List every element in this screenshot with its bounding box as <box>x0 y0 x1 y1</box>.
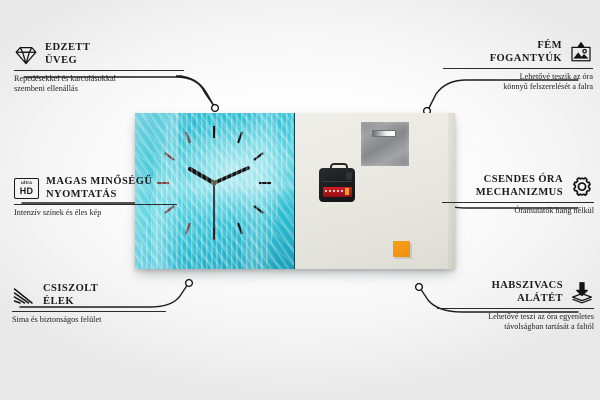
callout-title: CSISZOLT <box>43 283 98 296</box>
callout-title: MAGAS MINŐSÉGŰ <box>46 176 152 189</box>
callout-tempered-glass: EDZETT ÜVEG Repedésekkel és karcolásokka… <box>14 42 184 95</box>
hanging-picture-icon <box>569 41 593 65</box>
mechanism-seam <box>322 181 352 182</box>
callout-description: Intenzív színek és éles kép <box>14 208 177 218</box>
mechanism-hook <box>330 163 348 172</box>
diamond-icon <box>14 43 38 67</box>
connector-dot-foam-pad <box>416 284 423 291</box>
callout-description: Lehetővé teszi az óra egyenletes távolsá… <box>437 312 594 333</box>
foam-pad <box>393 241 410 257</box>
connector-dot-polished-edges <box>186 280 193 287</box>
infographic-canvas: EDZETT ÜVEG Repedésekkel és karcolásokka… <box>0 0 600 400</box>
callout-rule <box>12 311 166 312</box>
mechanism-adjust-knob <box>346 172 352 180</box>
callout-foam-pad: HABSZIVACS ALÁTÉT Lehetővé teszi az óra … <box>437 280 594 333</box>
connector-dot-tempered-glass <box>212 105 219 112</box>
callout-description: Lehetővé teszik az óra könnyű felszerelé… <box>443 72 593 93</box>
callout-description: Repedésekkel és karcolásokkal szembeni e… <box>14 74 184 95</box>
arrow-down-pad-icon <box>570 281 594 305</box>
gear-icon <box>570 175 594 199</box>
callout-title-line2: FOGANTYÚK <box>490 53 562 66</box>
minute-hand <box>214 168 248 183</box>
ultra-hd-icon-bottom-text: HD <box>20 187 34 196</box>
hatched-edge-icon <box>12 284 36 308</box>
callout-rule <box>442 202 594 203</box>
callout-rule <box>14 204 177 205</box>
callout-description: Sima és biztonságos felület <box>12 315 166 325</box>
hour-hand <box>190 169 214 183</box>
callout-title: CSENDES ÓRA <box>476 174 563 187</box>
callout-description: Óramutatók hang nélkül <box>442 206 594 216</box>
product-photo <box>135 113 455 269</box>
callout-silent-clock-mechanism: CSENDES ÓRA MECHANIZMUS Óramutatók hang … <box>442 174 594 216</box>
ultra-hd-icon: ultra HD <box>14 178 39 199</box>
callout-title-line2: ÜVEG <box>45 55 90 68</box>
callout-title-line2: ÉLEK <box>43 296 98 309</box>
callout-title-line2: ALÁTÉT <box>492 293 563 306</box>
callout-title-line2: MECHANIZMUS <box>476 187 563 200</box>
callout-rule <box>14 70 184 71</box>
callout-metal-handles: FÉM FOGANTYÚK Lehetővé teszik az óra kön… <box>443 40 593 93</box>
clock-hands <box>190 168 248 239</box>
clock-center-cap <box>211 180 216 185</box>
callout-rule <box>443 68 593 69</box>
metal-hanger-plate <box>361 122 409 166</box>
callout-title: FÉM <box>490 40 562 53</box>
callout-title: HABSZIVACS <box>492 280 563 293</box>
clock-mechanism-box <box>319 168 355 202</box>
callout-high-quality-print: ultra HD MAGAS MINŐSÉGŰ NYOMTATÁS Intenz… <box>14 176 177 218</box>
callout-rule <box>437 308 594 309</box>
hanger-slot <box>372 130 396 137</box>
callout-title: EDZETT <box>45 42 90 55</box>
battery <box>323 187 352 197</box>
battery-label <box>325 190 345 192</box>
callout-title-line2: NYOMTATÁS <box>46 189 152 202</box>
callout-polished-edges: CSISZOLT ÉLEK Sima és biztonságos felüle… <box>12 283 166 325</box>
